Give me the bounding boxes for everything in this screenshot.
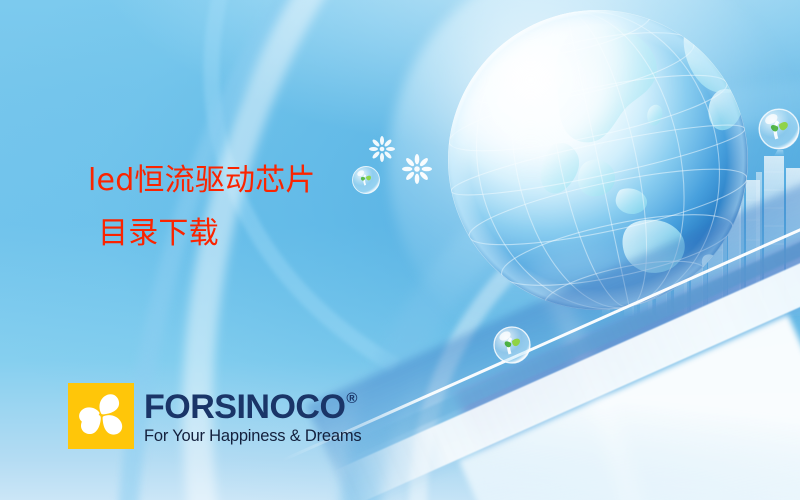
globe-illustration: [428, 0, 768, 334]
slide-canvas: led恒流驱动芯片 目录下载 FORSINOCO® For Your Happi…: [0, 0, 800, 500]
flower-burst-icon: [369, 136, 395, 162]
logo-wordmark: FORSINOCO®: [144, 390, 361, 424]
registered-trademark-icon: ®: [346, 391, 357, 406]
company-logo: FORSINOCO® For Your Happiness & Dreams: [68, 383, 361, 449]
four-petal-pinwheel-icon: [68, 383, 134, 449]
bubble-with-green-sprout-icon: [492, 325, 532, 365]
logo-tagline: For Your Happiness & Dreams: [144, 428, 361, 445]
logo-text-block: FORSINOCO® For Your Happiness & Dreams: [144, 388, 361, 445]
headline-text: led恒流驱动芯片 目录下载: [88, 166, 418, 249]
headline-line-1: led恒流驱动芯片: [88, 166, 418, 196]
bubble-with-green-sprout-icon: [757, 107, 800, 151]
headline-line-2: 目录下载: [98, 219, 418, 249]
logo-wordmark-text: FORSINOCO: [144, 390, 345, 424]
